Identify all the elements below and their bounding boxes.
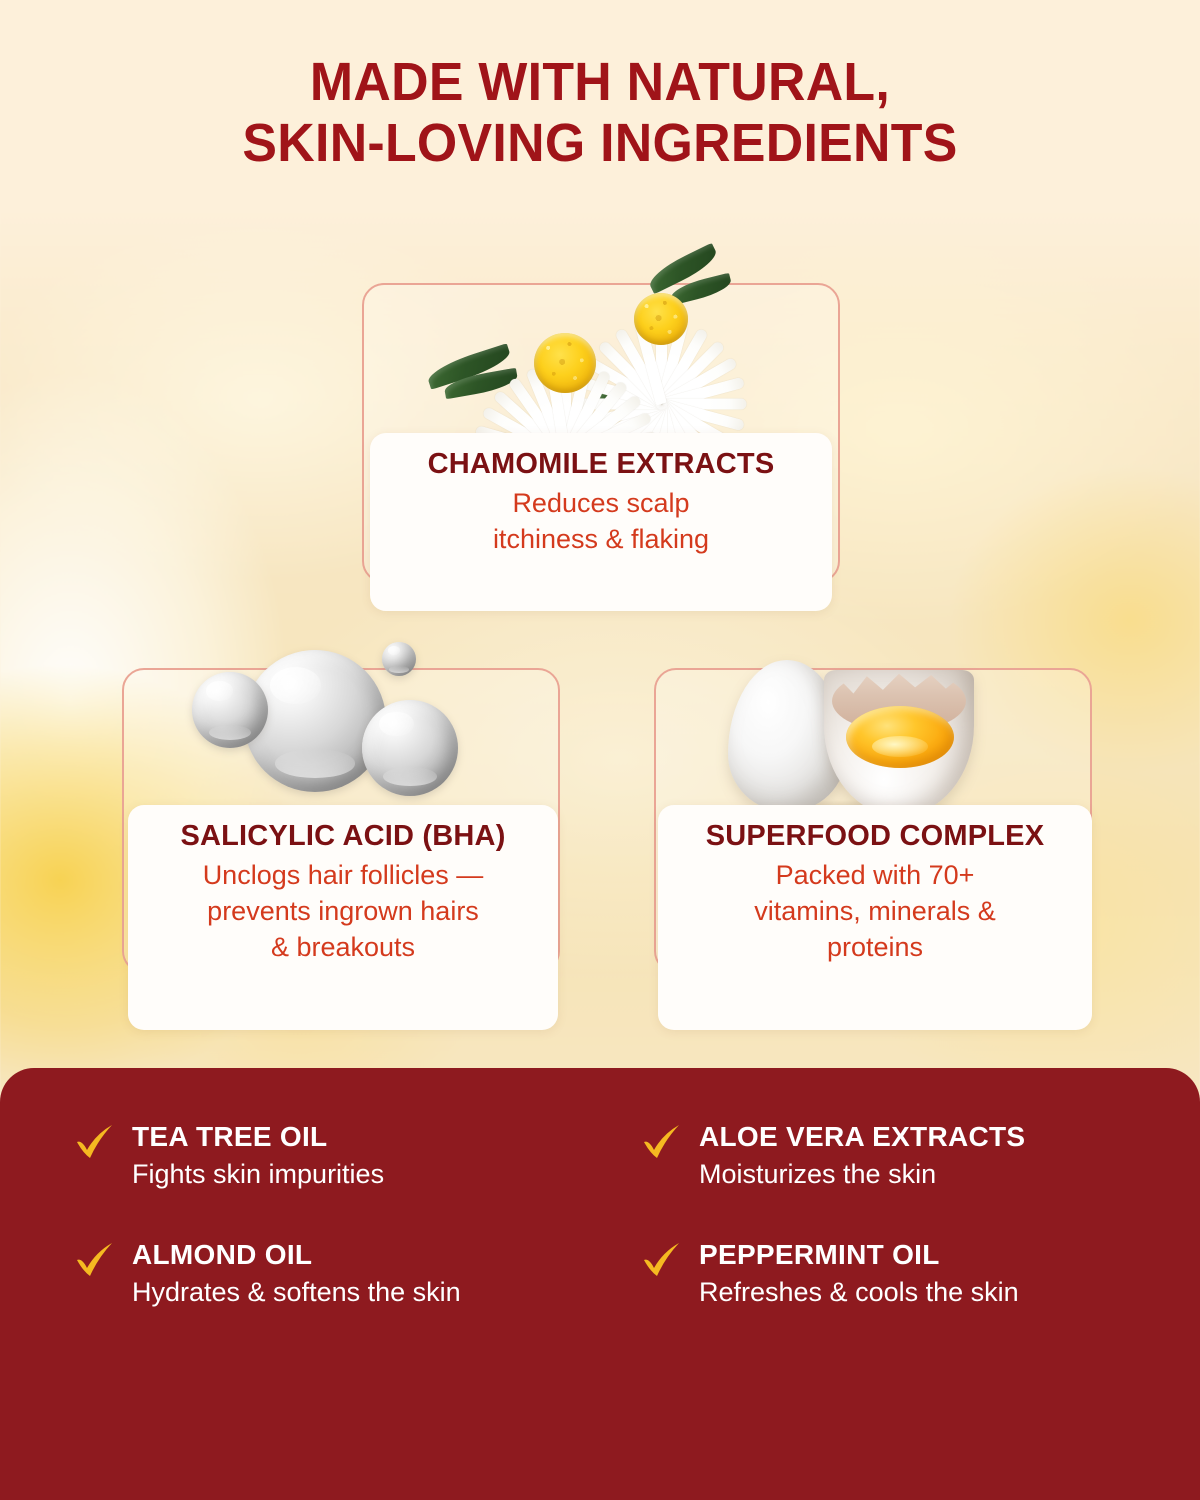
benefit-item-almond-oil: ALMOND OIL Hydrates & softens the skin <box>58 1238 575 1310</box>
check-icon <box>641 1122 683 1164</box>
card-desc-superfood-line-2: vitamins, minerals & <box>674 894 1076 930</box>
benefit-desc-tea-tree-oil: Fights skin impurities <box>132 1157 504 1192</box>
page-title-line-2: SKIN-LOVING INGREDIENTS <box>24 113 1176 174</box>
chamomile-daisy-icon <box>414 228 754 453</box>
cracked-egg-icon <box>720 652 1010 827</box>
card-desc-salicylic-acid-line-1: Unclogs hair follicles — <box>144 858 542 894</box>
page-title-line-1: MADE WITH NATURAL, <box>24 52 1176 113</box>
benefit-name-peppermint-oil: PEPPERMINT OIL <box>699 1238 1142 1271</box>
benefit-name-almond-oil: ALMOND OIL <box>132 1238 575 1271</box>
benefits-panel: TEA TREE OIL Fights skin impurities ALOE… <box>0 1068 1200 1500</box>
ingredient-card-salicylic-acid: SALICYLIC ACID (BHA) Unclogs hair follic… <box>128 805 558 1030</box>
bha-bubble-small <box>382 642 416 676</box>
benefit-name-tea-tree-oil: TEA TREE OIL <box>132 1120 575 1153</box>
bha-bubble-left <box>192 672 268 748</box>
page-title: MADE WITH NATURAL, SKIN-LOVING INGREDIEN… <box>0 52 1200 174</box>
benefit-item-peppermint-oil: PEPPERMINT OIL Refreshes & cools the ski… <box>625 1238 1142 1310</box>
benefits-grid: TEA TREE OIL Fights skin impurities ALOE… <box>58 1120 1142 1310</box>
benefit-item-tea-tree-oil: TEA TREE OIL Fights skin impurities <box>58 1120 575 1192</box>
check-icon <box>74 1240 116 1282</box>
card-desc-salicylic-acid-line-2: prevents ingrown hairs <box>144 894 542 930</box>
egg-yolk <box>846 706 954 768</box>
bha-bubble-right <box>362 700 458 796</box>
egg-cracked-shell <box>824 670 974 816</box>
check-icon <box>641 1240 683 1282</box>
card-title-chamomile: CHAMOMILE EXTRACTS <box>386 447 816 482</box>
ingredient-card-chamomile: CHAMOMILE EXTRACTS Reduces scalp itchine… <box>370 433 832 611</box>
card-title-superfood: SUPERFOOD COMPLEX <box>674 819 1076 854</box>
card-desc-chamomile-line-2: itchiness & flaking <box>386 522 816 558</box>
daisy-core-front <box>534 333 596 393</box>
card-desc-superfood-line-1: Packed with 70+ <box>674 858 1076 894</box>
bha-molecule-icon: BHA <box>186 640 476 820</box>
benefit-desc-almond-oil: Hydrates & softens the skin <box>132 1275 504 1310</box>
benefit-name-aloe-vera-extracts: ALOE VERA EXTRACTS <box>699 1120 1142 1153</box>
ingredient-card-superfood: SUPERFOOD COMPLEX Packed with 70+ vitami… <box>658 805 1092 1030</box>
benefit-item-aloe-vera-extracts: ALOE VERA EXTRACTS Moisturizes the skin <box>625 1120 1142 1192</box>
card-desc-superfood-line-3: proteins <box>674 930 1076 966</box>
card-title-salicylic-acid: SALICYLIC ACID (BHA) <box>144 819 542 854</box>
benefit-desc-peppermint-oil: Refreshes & cools the skin <box>699 1275 1071 1310</box>
card-desc-chamomile-line-1: Reduces scalp <box>386 486 816 522</box>
check-icon <box>74 1122 116 1164</box>
card-desc-salicylic-acid-line-3: & breakouts <box>144 930 542 966</box>
benefit-desc-aloe-vera-extracts: Moisturizes the skin <box>699 1157 1071 1192</box>
